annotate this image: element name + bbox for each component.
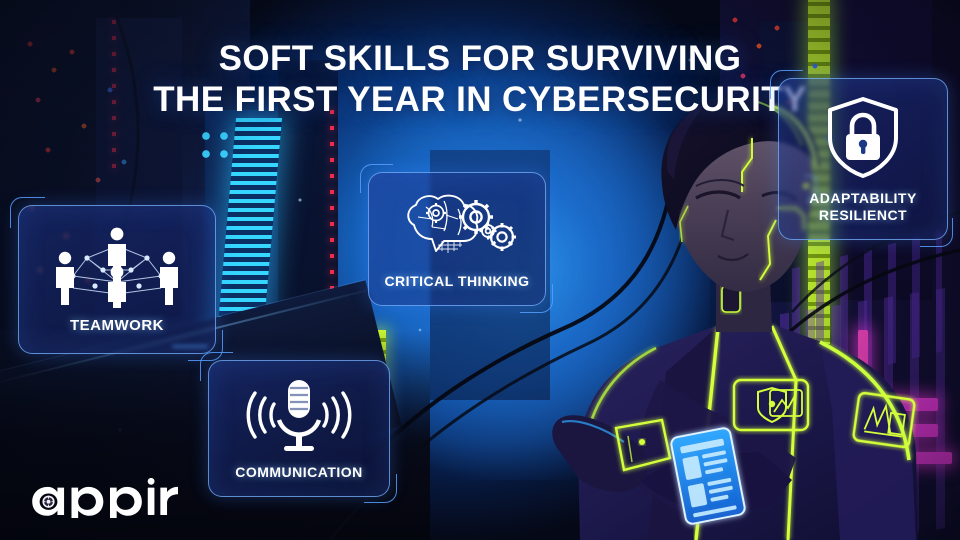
brain-gears-icon (392, 189, 522, 265)
title-line-1: SOFT SKILLS FOR SURVIVING (0, 38, 960, 79)
shield-lock-icon (822, 94, 904, 180)
card-label-line-2: RESILIENCT (819, 207, 907, 224)
card-label: COMMUNICATION (235, 464, 363, 481)
skill-card-communication[interactable]: COMMUNICATION (208, 360, 390, 497)
poster-canvas: SOFT SKILLS FOR SURVIVING THE FIRST YEAR… (0, 0, 960, 540)
card-label-line-1: ADAPTABILITY (809, 190, 917, 207)
microphone-icon (241, 376, 357, 452)
skill-card-adaptability[interactable]: ADAPTABILITY RESILIENCT (778, 78, 948, 240)
logo-emblem (42, 496, 54, 508)
card-label: CRITICAL THINKING (384, 273, 529, 290)
skill-card-teamwork[interactable]: TEAMWORK (18, 205, 216, 354)
appin-logo[interactable] (30, 478, 178, 518)
card-label: TEAMWORK (70, 317, 164, 335)
people-network-icon (47, 224, 187, 308)
skill-card-critical-thinking[interactable]: CRITICAL THINKING (368, 172, 546, 306)
